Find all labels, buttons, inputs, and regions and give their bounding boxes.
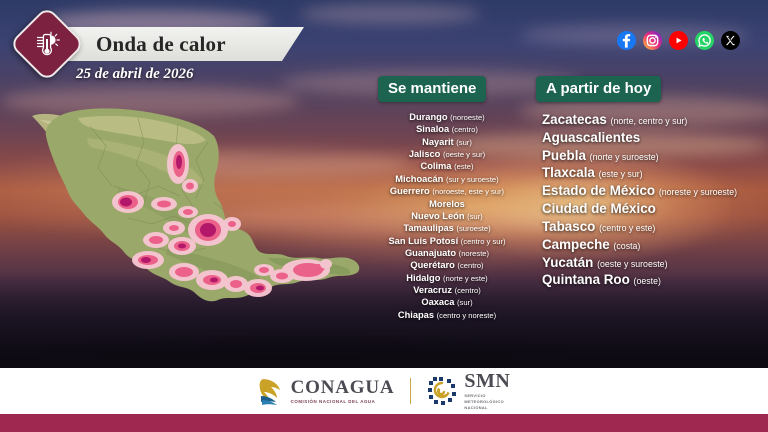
conagua-eagle-icon: [258, 375, 284, 407]
column-heading-se-mantiene: Se mantiene: [378, 76, 486, 102]
state-name: Campeche: [542, 237, 610, 252]
list-item: Yucatán (oeste y suroeste): [542, 254, 762, 272]
list-item: San Luis Potosí (centro y sur): [362, 235, 532, 247]
column-se-mantiene: Se mantiene Durango (noroeste) Sinaloa (…: [362, 76, 532, 321]
state-note: (centro y este): [599, 223, 655, 233]
state-name: Tabasco: [542, 219, 595, 234]
smn-spiral-icon: [427, 376, 457, 406]
list-item: Hidalgo (norte y este): [362, 272, 532, 284]
youtube-icon[interactable]: [669, 31, 688, 50]
state-list-a-partir-de-hoy: Zacatecas (norte, centro y sur) Aguascal…: [524, 111, 762, 289]
footer-accent-bar: [0, 414, 768, 432]
state-note: (suroeste): [456, 224, 490, 233]
list-item: Jalisco (oeste y sur): [362, 148, 532, 160]
state-name: Aguascalientes: [542, 130, 640, 145]
facebook-icon[interactable]: [617, 31, 636, 50]
state-note: (oeste): [634, 276, 661, 286]
state-note: (centro): [452, 125, 478, 134]
state-name: Chiapas: [398, 310, 434, 320]
column-heading-a-partir-de-hoy: A partir de hoy: [536, 76, 661, 102]
whatsapp-icon[interactable]: [695, 31, 714, 50]
list-item: Colima (este): [362, 160, 532, 172]
state-name: Veracruz: [413, 285, 452, 295]
date-label: 25 de abril de 2026: [76, 66, 194, 83]
state-name: Ciudad de México: [542, 201, 656, 216]
state-name: Sinaloa: [416, 124, 449, 134]
state-name: Yucatán: [542, 255, 593, 270]
list-item: Querétaro (centro): [362, 259, 532, 271]
x-twitter-icon[interactable]: [721, 31, 740, 50]
state-name: Colima: [420, 161, 451, 171]
list-item: Campeche (costa): [542, 236, 762, 254]
conagua-wordmark: CONAGUA: [291, 378, 395, 397]
state-note: (centro): [457, 261, 483, 270]
state-note: (norte y este): [443, 274, 488, 283]
smn-wordmark: SMN: [464, 371, 510, 391]
state-name: Guerrero: [390, 186, 430, 196]
list-item: Aguascalientes: [542, 129, 762, 147]
state-list-se-mantiene: Durango (noroeste) Sinaloa (centro) Naya…: [362, 111, 532, 321]
list-item: Michoacán (sur y suroeste): [362, 173, 532, 185]
list-item: Tamaulipas (suroeste): [362, 222, 532, 234]
state-name: Oaxaca: [421, 297, 454, 307]
state-name: Puebla: [542, 148, 586, 163]
footer: CONAGUA COMISIÓN NACIONAL DEL AGUA: [0, 368, 768, 414]
state-note: (noreste y suroeste): [659, 187, 737, 197]
map-mainland: [46, 108, 360, 301]
state-note: (sur): [457, 298, 473, 307]
column-a-partir-de-hoy: A partir de hoy Zacatecas (norte, centro…: [524, 76, 762, 289]
state-note: (centro y noreste): [437, 311, 497, 320]
state-name: Durango: [409, 112, 447, 122]
state-note: (sur y suroeste): [446, 175, 499, 184]
list-item: Chiapas (centro y noreste): [362, 309, 532, 321]
list-item: Estado de México (noreste y suroeste): [542, 182, 762, 200]
state-note: (sur): [456, 138, 472, 147]
state-note: (centro): [455, 286, 481, 295]
state-name: Nayarit: [422, 137, 454, 147]
state-note: (noroeste): [450, 113, 485, 122]
state-name: Tlaxcala: [542, 165, 595, 180]
conagua-tagline: COMISIÓN NACIONAL DEL AGUA: [291, 399, 395, 404]
conagua-logo: CONAGUA COMISIÓN NACIONAL DEL AGUA: [258, 375, 395, 407]
state-name: Quintana Roo: [542, 272, 630, 287]
state-note: (noreste): [459, 249, 489, 258]
state-name: Estado de México: [542, 183, 655, 198]
list-item: Morelos: [362, 198, 532, 210]
mexico-heat-map: [18, 98, 368, 356]
state-name: Guanajuato: [405, 248, 456, 258]
state-note: (oeste y suroeste): [597, 259, 667, 269]
title-banner: Onda de calor: [56, 27, 304, 61]
header: Onda de calor: [0, 0, 768, 64]
list-item: Veracruz (centro): [362, 284, 532, 296]
state-note: (norte y suroeste): [590, 152, 659, 162]
page-title: Onda de calor: [96, 32, 226, 57]
list-item: Oaxaca (sur): [362, 296, 532, 308]
list-item: Puebla (norte y suroeste): [542, 147, 762, 165]
list-item: Quintana Roo (oeste): [542, 271, 762, 289]
infographic-stage: Onda de calor: [0, 0, 768, 432]
list-item: Zacatecas (norte, centro y sur): [542, 111, 762, 129]
thermometer-sun-icon: [20, 17, 74, 71]
list-item: Ciudad de México: [542, 200, 762, 218]
state-name: Jalisco: [409, 149, 441, 159]
list-item: Tabasco (centro y este): [542, 218, 762, 236]
state-note: (este y sur): [599, 169, 643, 179]
state-name: Tamaulipas: [403, 223, 453, 233]
list-item: Durango (noroeste): [362, 111, 532, 123]
state-note: (sur): [467, 212, 483, 221]
smn-logo: SMN SERVICIOMETEOROLÓGICONACIONAL: [427, 371, 510, 411]
footer-divider: [410, 378, 411, 404]
state-note: (costa): [613, 241, 640, 251]
state-note: (centro y sur): [461, 237, 506, 246]
state-note: (oeste y sur): [443, 150, 485, 159]
state-note: (este): [454, 162, 473, 171]
instagram-icon[interactable]: [643, 31, 662, 50]
state-name: Querétaro: [410, 260, 454, 270]
state-name: Michoacán: [395, 174, 443, 184]
state-name: Hidalgo: [406, 273, 440, 283]
list-item: Guanajuato (noreste): [362, 247, 532, 259]
social-links[interactable]: [617, 31, 740, 50]
state-name: Zacatecas: [542, 112, 607, 127]
list-item: Tlaxcala (este y sur): [542, 164, 762, 182]
state-name: San Luis Potosí: [388, 236, 458, 246]
state-name: Nuevo León: [411, 211, 464, 221]
list-item: Nuevo León (sur): [362, 210, 532, 222]
state-note: (noroeste, este y sur): [432, 187, 504, 196]
smn-tagline: SERVICIOMETEOROLÓGICONACIONAL: [464, 393, 510, 411]
list-item: Sinaloa (centro): [362, 123, 532, 135]
state-name: Morelos: [429, 199, 465, 209]
list-item: Guerrero (noroeste, este y sur): [362, 185, 532, 197]
state-note: (norte, centro y sur): [611, 116, 688, 126]
list-item: Nayarit (sur): [362, 136, 532, 148]
